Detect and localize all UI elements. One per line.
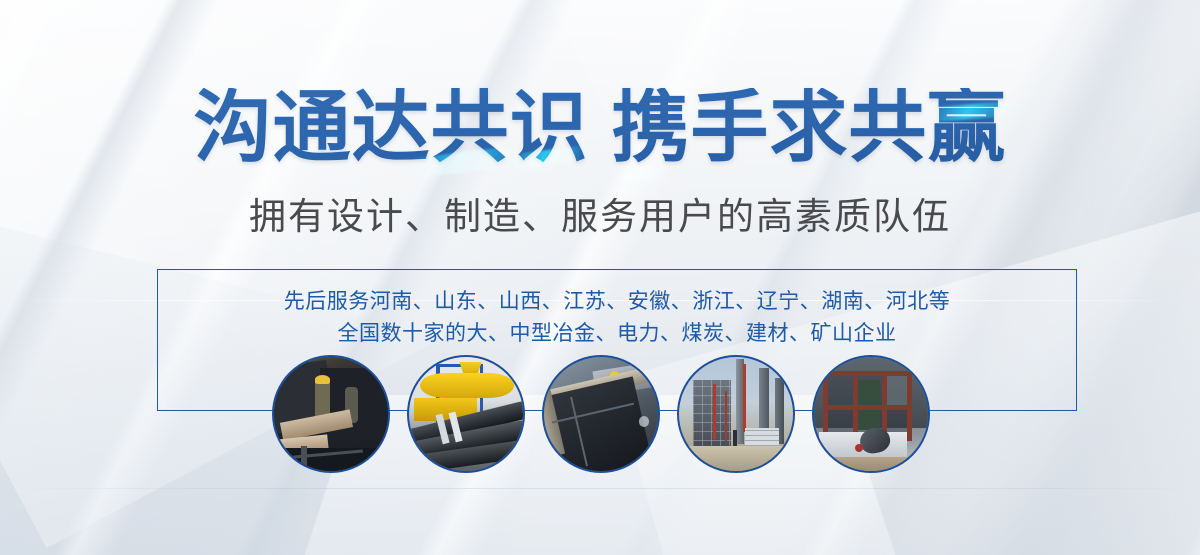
info-box-line-1: 先后服务河南、山东、山西、江苏、安徽、浙江、辽宁、湖南、河北等 [158, 286, 1076, 318]
thumbnail-image-1 [274, 357, 388, 471]
banner-subheadline: 拥有设计、制造、服务用户的高素质队伍 [0, 198, 1200, 235]
thumbnail-plant-construction-scaffold[interactable] [677, 355, 795, 473]
banner-headline: 沟通达共识 携手求共赢 [0, 88, 1200, 166]
info-box-line-2: 全国数十家的大、中型冶金、电力、煤炭、建材、矿山企业 [158, 318, 1076, 350]
thumbnail-factory-interior-red-frame[interactable] [812, 355, 930, 473]
thumbnail-yellow-machinery-black-pipes[interactable] [407, 355, 525, 473]
thumbnail-image-5 [814, 357, 928, 471]
info-box-text-block: 先后服务河南、山东、山西、江苏、安徽、浙江、辽宁、湖南、河北等 全国数十家的大、… [158, 286, 1076, 350]
thumbnail-workers-steel-tank-lining[interactable] [272, 355, 390, 473]
banner-content: 沟通达共识 携手求共赢 拥有设计、制造、服务用户的高素质队伍 先后服务河南、山东… [0, 0, 1200, 555]
thumbnail-tilted-steel-box-structure[interactable] [542, 355, 660, 473]
thumbnail-image-3 [544, 357, 658, 471]
thumbnail-image-4 [679, 357, 793, 471]
thumbnail-image-2 [409, 357, 523, 471]
thumbnail-gallery [272, 355, 930, 475]
promo-banner: 沟通达共识 携手求共赢 拥有设计、制造、服务用户的高素质队伍 先后服务河南、山东… [0, 0, 1200, 555]
